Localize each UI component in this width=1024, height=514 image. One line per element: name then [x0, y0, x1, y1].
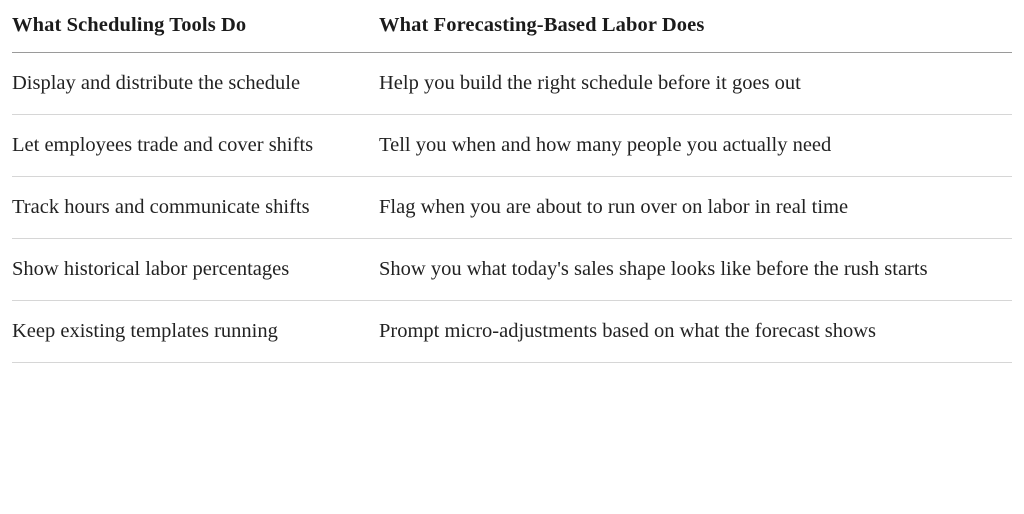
table-header-row: What Scheduling Tools Do What Forecastin… — [12, 0, 1012, 53]
column-header-forecasting-labor: What Forecasting-Based Labor Does — [379, 0, 1012, 53]
table-row: Keep existing templates running Prompt m… — [12, 301, 1012, 363]
table-header: What Scheduling Tools Do What Forecastin… — [12, 0, 1012, 53]
cell-scheduling-tools: Let employees trade and cover shifts — [12, 115, 379, 177]
cell-forecasting-labor: Flag when you are about to run over on l… — [379, 177, 1012, 239]
table-row: Track hours and communicate shifts Flag … — [12, 177, 1012, 239]
cell-scheduling-tools: Show historical labor percentages — [12, 239, 379, 301]
table-body: Display and distribute the schedule Help… — [12, 53, 1012, 363]
comparison-table: What Scheduling Tools Do What Forecastin… — [12, 0, 1012, 363]
cell-scheduling-tools: Keep existing templates running — [12, 301, 379, 363]
cell-forecasting-labor: Tell you when and how many people you ac… — [379, 115, 1012, 177]
cell-forecasting-labor: Help you build the right schedule before… — [379, 53, 1012, 115]
comparison-table-container: What Scheduling Tools Do What Forecastin… — [12, 0, 1012, 363]
cell-forecasting-labor: Prompt micro-adjustments based on what t… — [379, 301, 1012, 363]
cell-scheduling-tools: Track hours and communicate shifts — [12, 177, 379, 239]
cell-scheduling-tools: Display and distribute the schedule — [12, 53, 379, 115]
table-row: Show historical labor percentages Show y… — [12, 239, 1012, 301]
column-header-scheduling-tools: What Scheduling Tools Do — [12, 0, 379, 53]
table-row: Let employees trade and cover shifts Tel… — [12, 115, 1012, 177]
table-row: Display and distribute the schedule Help… — [12, 53, 1012, 115]
cell-forecasting-labor: Show you what today's sales shape looks … — [379, 239, 1012, 301]
